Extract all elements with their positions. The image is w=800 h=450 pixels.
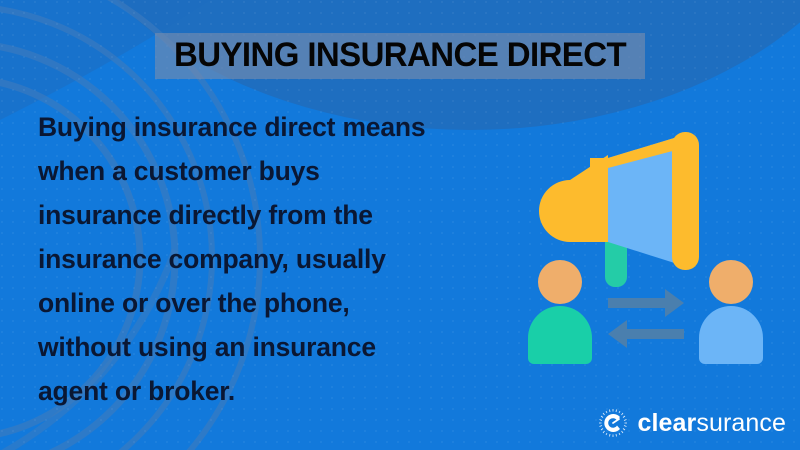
- body-paragraph: Buying insurance direct means when a cus…: [38, 105, 508, 413]
- arrow-right-icon: [608, 289, 684, 317]
- person-left-head: [538, 260, 582, 304]
- logo-word-bold: clear: [637, 409, 696, 437]
- body-line: online or over the phone,: [38, 281, 508, 325]
- clearsurance-speedometer-c-icon: [598, 408, 628, 438]
- title-highlight-band: BUYING INSURANCE DIRECT: [155, 33, 645, 79]
- infographic-canvas: BUYING INSURANCE DIRECT Buying insurance…: [0, 0, 800, 450]
- arrow-left-icon: [608, 320, 684, 348]
- logo-wordmark: clearsurance: [637, 411, 786, 436]
- person-left-customer: [528, 260, 592, 364]
- body-line: without using an insurance: [38, 325, 508, 369]
- person-right-head: [709, 260, 753, 304]
- body-line: insurance directly from the: [38, 193, 508, 237]
- clearsurance-logo[interactable]: clearsurance: [598, 408, 786, 438]
- person-right-body: [699, 306, 763, 364]
- body-line: when a customer buys: [38, 149, 508, 193]
- megaphone-rim: [672, 132, 699, 270]
- title-text: BUYING INSURANCE DIRECT: [174, 38, 626, 72]
- body-line: Buying insurance direct means: [38, 105, 508, 149]
- body-line: insurance company, usually: [38, 237, 508, 281]
- person-right-insurer: [699, 260, 763, 364]
- illustration-megaphone-people: [520, 130, 800, 380]
- person-left-body: [528, 306, 592, 364]
- body-line: agent or broker.: [38, 369, 508, 413]
- page-title: BUYING INSURANCE DIRECT: [0, 33, 800, 79]
- logo-word-light: surance: [696, 409, 786, 437]
- exchange-arrows: [608, 289, 684, 348]
